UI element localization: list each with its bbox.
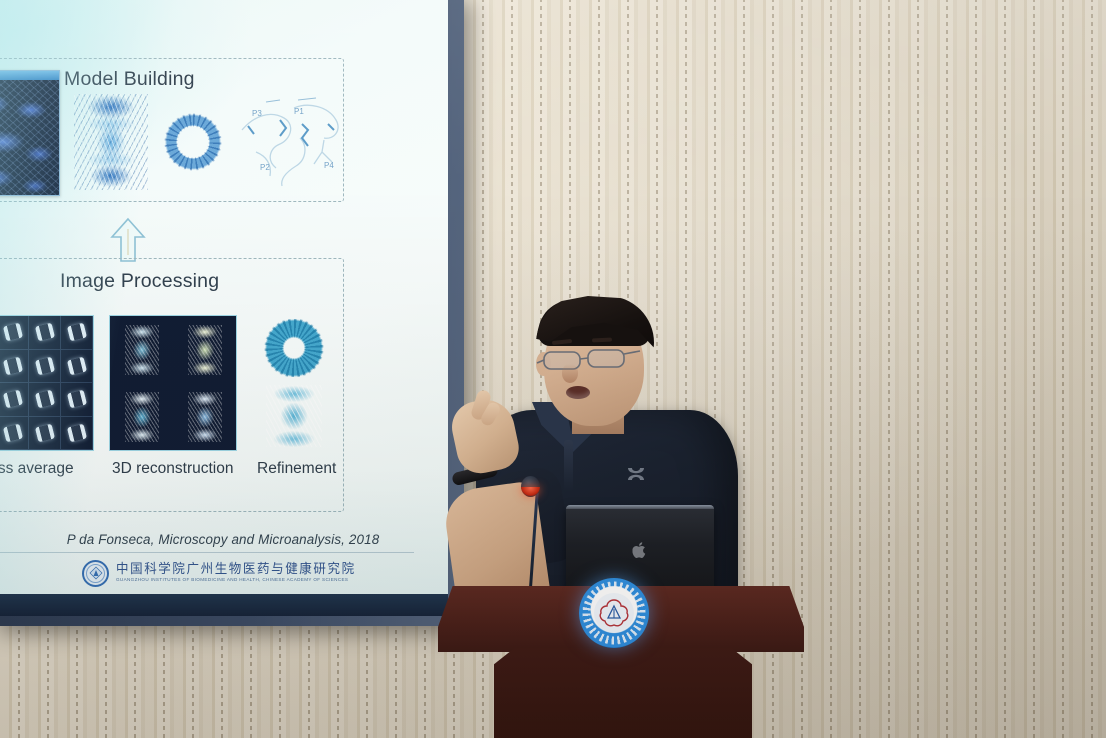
projection-screen: Model Building <box>0 0 448 606</box>
apple-logo-icon <box>633 541 648 558</box>
svg-text:P3: P3 <box>252 109 262 118</box>
organization-names: 中国科学院广州生物医药与健康研究院 GUANGZHOU INSTITUTES O… <box>116 563 356 582</box>
svg-text:P1: P1 <box>294 107 304 116</box>
refinement-side-view <box>266 385 322 447</box>
institute-seal-icon <box>82 560 109 587</box>
image-processing-title: Image Processing <box>60 270 219 293</box>
class-average-cell <box>29 417 61 451</box>
speaker-mouth <box>566 386 590 399</box>
speaker-nose <box>562 364 578 383</box>
class-average-cell <box>0 350 29 384</box>
density-mesh <box>0 80 59 195</box>
presentation-photo: Model Building <box>0 0 1106 738</box>
reconstruction-view <box>173 316 236 383</box>
polo-placket <box>564 440 573 492</box>
density-map-window <box>0 70 60 196</box>
screen-bottom-bar <box>0 594 448 616</box>
refinement-top-view <box>263 319 325 377</box>
refinement-caption: Refinement <box>257 460 336 478</box>
citation-text: P da Fonseca, Microscopy and Microanalys… <box>48 532 398 547</box>
organization-name-cn: 中国科学院广州生物医药与健康研究院 <box>116 563 356 576</box>
class-average-cell <box>61 350 93 384</box>
under-armour-logo-icon <box>624 465 648 483</box>
podium-body <box>494 648 752 738</box>
density-window-titlebar <box>0 71 59 80</box>
ring-model <box>158 108 228 176</box>
3d-reconstruction-panel <box>109 315 237 451</box>
svg-text:P4: P4 <box>324 161 334 170</box>
class-average-cell <box>61 417 93 451</box>
class-average-cell <box>0 316 29 350</box>
class-average-panel <box>0 315 94 451</box>
reconstruction-view <box>110 383 173 450</box>
binding-site-diagram: P3 P1 P2 P4 <box>236 90 348 190</box>
class-average-cell <box>61 383 93 417</box>
class-average-cell <box>0 383 29 417</box>
organization-name-en: GUANGZHOU INSTITUTES OF BIOMEDICINE AND … <box>116 578 356 583</box>
3d-reconstruction-caption: 3D reconstruction <box>112 460 233 478</box>
class-average-cell <box>29 350 61 384</box>
reconstruction-view <box>173 383 236 450</box>
svg-text:P2: P2 <box>260 163 270 172</box>
atomic-ribbon-model <box>74 94 148 190</box>
refinement-panel <box>256 315 342 449</box>
projection-screen-frame: Model Building <box>0 0 464 626</box>
reconstruction-view <box>110 316 173 383</box>
citation-divider <box>0 552 414 553</box>
flow-up-arrow-icon <box>110 217 146 263</box>
laptop-lid-edge <box>566 505 714 509</box>
class-average-cell <box>0 417 29 451</box>
class-average-caption: class average <box>0 460 74 478</box>
class-average-grid <box>0 316 93 450</box>
laptop <box>566 505 714 591</box>
organization-footer: 中国科学院广州生物医药与健康研究院 GUANGZHOU INSTITUTES O… <box>82 558 412 588</box>
class-average-cell <box>61 316 93 350</box>
class-average-cell <box>29 316 61 350</box>
eyeglasses-icon <box>536 346 648 372</box>
model-building-title: Model Building <box>64 68 195 91</box>
class-average-cell <box>29 383 61 417</box>
podium-emblem-icon <box>579 578 649 648</box>
